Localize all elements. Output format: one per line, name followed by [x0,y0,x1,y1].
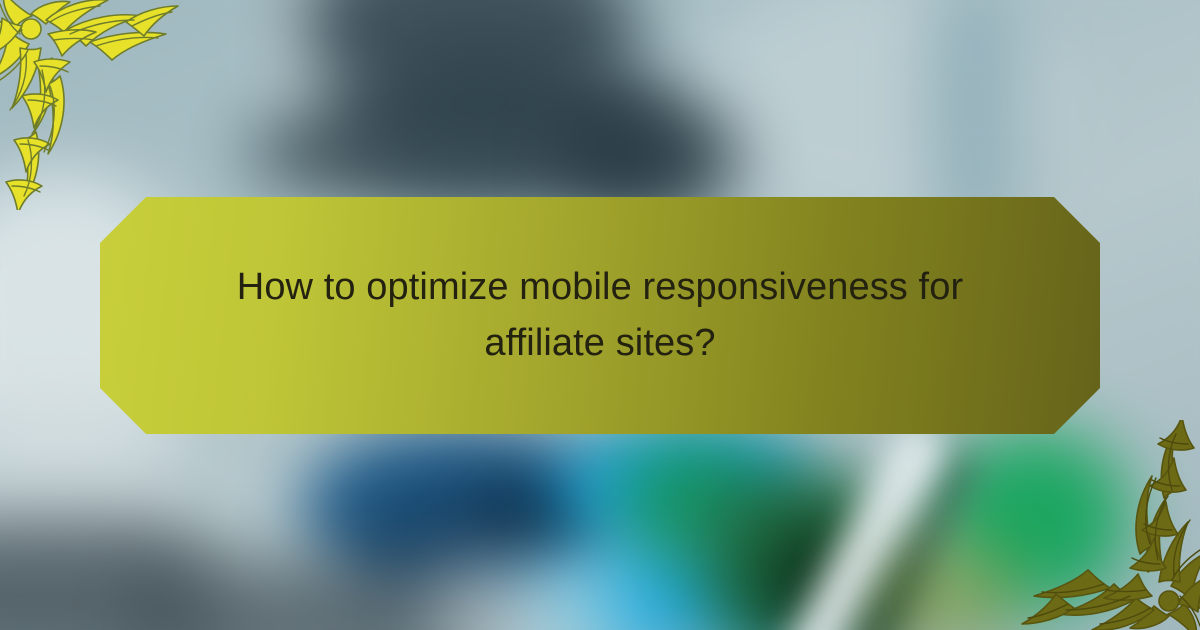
poster-canvas: How to optimize mobile responsiveness fo… [0,0,1200,630]
background-blob-bottom-light [430,560,610,630]
page-title: How to optimize mobile responsiveness fo… [220,260,980,370]
title-banner: How to optimize mobile responsiveness fo… [100,197,1100,434]
